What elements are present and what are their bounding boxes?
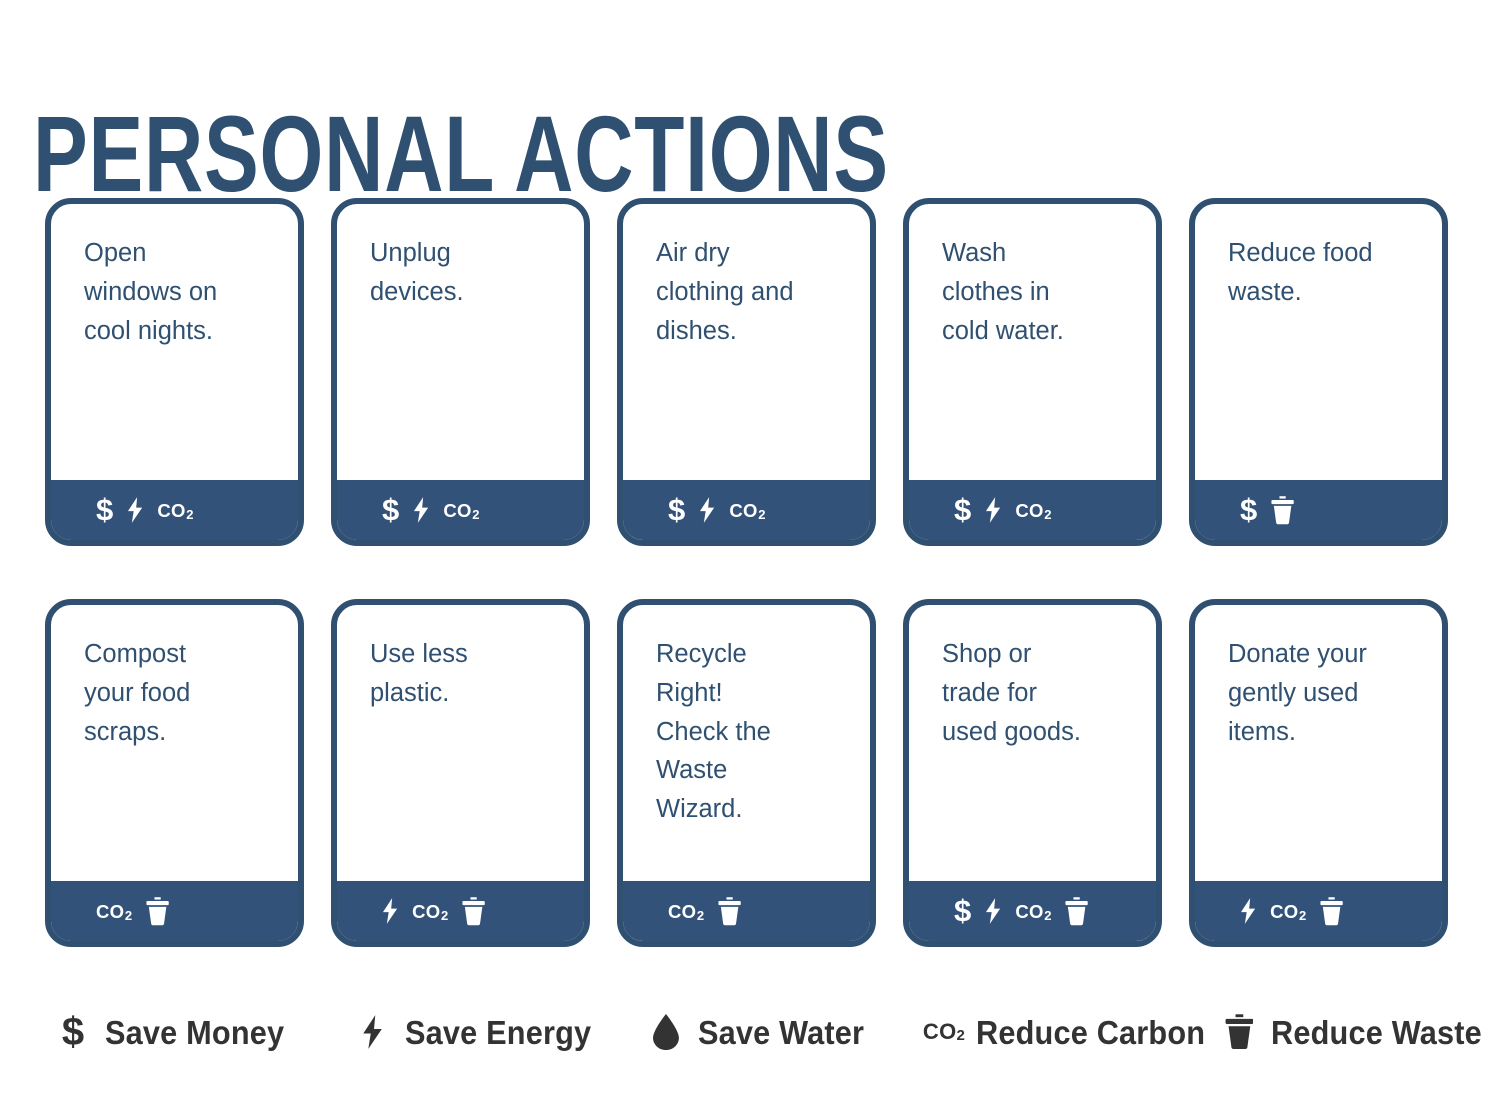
action-card-text: Donate your gently used items. (1195, 605, 1442, 881)
save-energy-icon (382, 898, 398, 924)
action-card-benefit-bar: $CO2 (623, 480, 870, 540)
save-money-icon: $ (382, 494, 399, 525)
legend-item-save-money: $Save Money (56, 1012, 356, 1052)
action-card-benefit-bar: $CO2 (51, 480, 298, 540)
action-card-benefit-bar: CO2 (51, 881, 298, 941)
legend-item-label: Save Energy (405, 1016, 591, 1049)
reduce-waste-icon (1065, 897, 1088, 926)
save-energy-icon (127, 497, 143, 523)
reduce-carbon-icon: CO2 (443, 502, 479, 521)
reduce-carbon-icon: CO2 (1015, 903, 1051, 922)
save-money-icon: $ (668, 494, 685, 525)
action-card[interactable]: Wash clothes in cold water.$CO2 (903, 198, 1162, 546)
card-row-2: Compost your food scraps.CO2Use less pla… (45, 599, 1465, 947)
reduce-carbon-icon: CO2 (927, 1021, 961, 1043)
legend-item-label: Save Money (105, 1016, 284, 1049)
action-card-text: Recycle Right! Check the Waste Wizard. (623, 605, 870, 881)
legend-item-label: Reduce Carbon (976, 1016, 1205, 1049)
action-card-benefit-bar: $ (1195, 480, 1442, 540)
action-card-text: Open windows on cool nights. (51, 204, 298, 480)
action-card[interactable]: Use less plastic.CO2 (331, 599, 590, 947)
action-card-text: Wash clothes in cold water. (909, 204, 1156, 480)
action-card-benefit-bar: $CO2 (909, 881, 1156, 941)
action-card-benefit-bar: CO2 (1195, 881, 1442, 941)
action-card[interactable]: Open windows on cool nights.$CO2 (45, 198, 304, 546)
reduce-waste-icon (1320, 897, 1343, 926)
save-water-icon (649, 1014, 683, 1050)
legend-item-save-energy: Save Energy (356, 1015, 649, 1049)
reduce-carbon-icon: CO2 (412, 903, 448, 922)
reduce-carbon-icon: CO2 (668, 903, 704, 922)
reduce-carbon-icon: CO2 (1015, 502, 1051, 521)
action-card[interactable]: Shop or trade for used goods.$CO2 (903, 599, 1162, 947)
save-energy-icon (413, 497, 429, 523)
save-energy-icon (985, 898, 1001, 924)
action-card-text: Unplug devices. (337, 204, 584, 480)
action-card-grid: Open windows on cool nights.$CO2Unplug d… (45, 198, 1465, 947)
save-money-icon: $ (56, 1012, 90, 1052)
save-energy-icon (356, 1015, 390, 1049)
save-energy-icon (1240, 898, 1256, 924)
card-row-1: Open windows on cool nights.$CO2Unplug d… (45, 198, 1465, 546)
legend-item-label: Save Water (698, 1016, 864, 1049)
reduce-carbon-icon: CO2 (729, 502, 765, 521)
page-title: PERSONAL ACTIONS (33, 100, 889, 208)
action-card[interactable]: Donate your gently used items.CO2 (1189, 599, 1448, 947)
reduce-waste-icon (462, 897, 485, 926)
action-card-text: Shop or trade for used goods. (909, 605, 1156, 881)
save-energy-icon (985, 497, 1001, 523)
save-energy-icon (699, 497, 715, 523)
action-card-text: Reduce food waste. (1195, 204, 1442, 480)
legend-item-reduce-waste: Reduce Waste (1222, 1014, 1482, 1050)
action-card[interactable]: Reduce food waste.$ (1189, 198, 1448, 546)
legend: $Save MoneySave EnergySave WaterCO2Reduc… (56, 1012, 1476, 1052)
save-money-icon: $ (954, 895, 971, 926)
action-card[interactable]: Air dry clothing and dishes.$CO2 (617, 198, 876, 546)
action-card[interactable]: Unplug devices.$CO2 (331, 198, 590, 546)
reduce-carbon-icon: CO2 (157, 502, 193, 521)
legend-item-reduce-carbon: CO2Reduce Carbon (927, 1016, 1222, 1049)
save-money-icon: $ (1240, 494, 1257, 525)
action-card-text: Compost your food scraps. (51, 605, 298, 881)
action-card-text: Use less plastic. (337, 605, 584, 881)
action-card-benefit-bar: CO2 (337, 881, 584, 941)
reduce-waste-icon (1271, 496, 1294, 525)
reduce-waste-icon (146, 897, 169, 926)
save-money-icon: $ (96, 494, 113, 525)
action-card-benefit-bar: $CO2 (909, 480, 1156, 540)
reduce-carbon-icon: CO2 (96, 903, 132, 922)
action-card[interactable]: Compost your food scraps.CO2 (45, 599, 304, 947)
reduce-waste-icon (1222, 1014, 1256, 1050)
reduce-waste-icon (718, 897, 741, 926)
action-card-text: Air dry clothing and dishes. (623, 204, 870, 480)
save-money-icon: $ (954, 494, 971, 525)
action-card-benefit-bar: $CO2 (337, 480, 584, 540)
legend-item-label: Reduce Waste (1271, 1016, 1482, 1049)
legend-item-save-water: Save Water (649, 1014, 927, 1050)
action-card-benefit-bar: CO2 (623, 881, 870, 941)
action-card[interactable]: Recycle Right! Check the Waste Wizard.CO… (617, 599, 876, 947)
reduce-carbon-icon: CO2 (1270, 903, 1306, 922)
